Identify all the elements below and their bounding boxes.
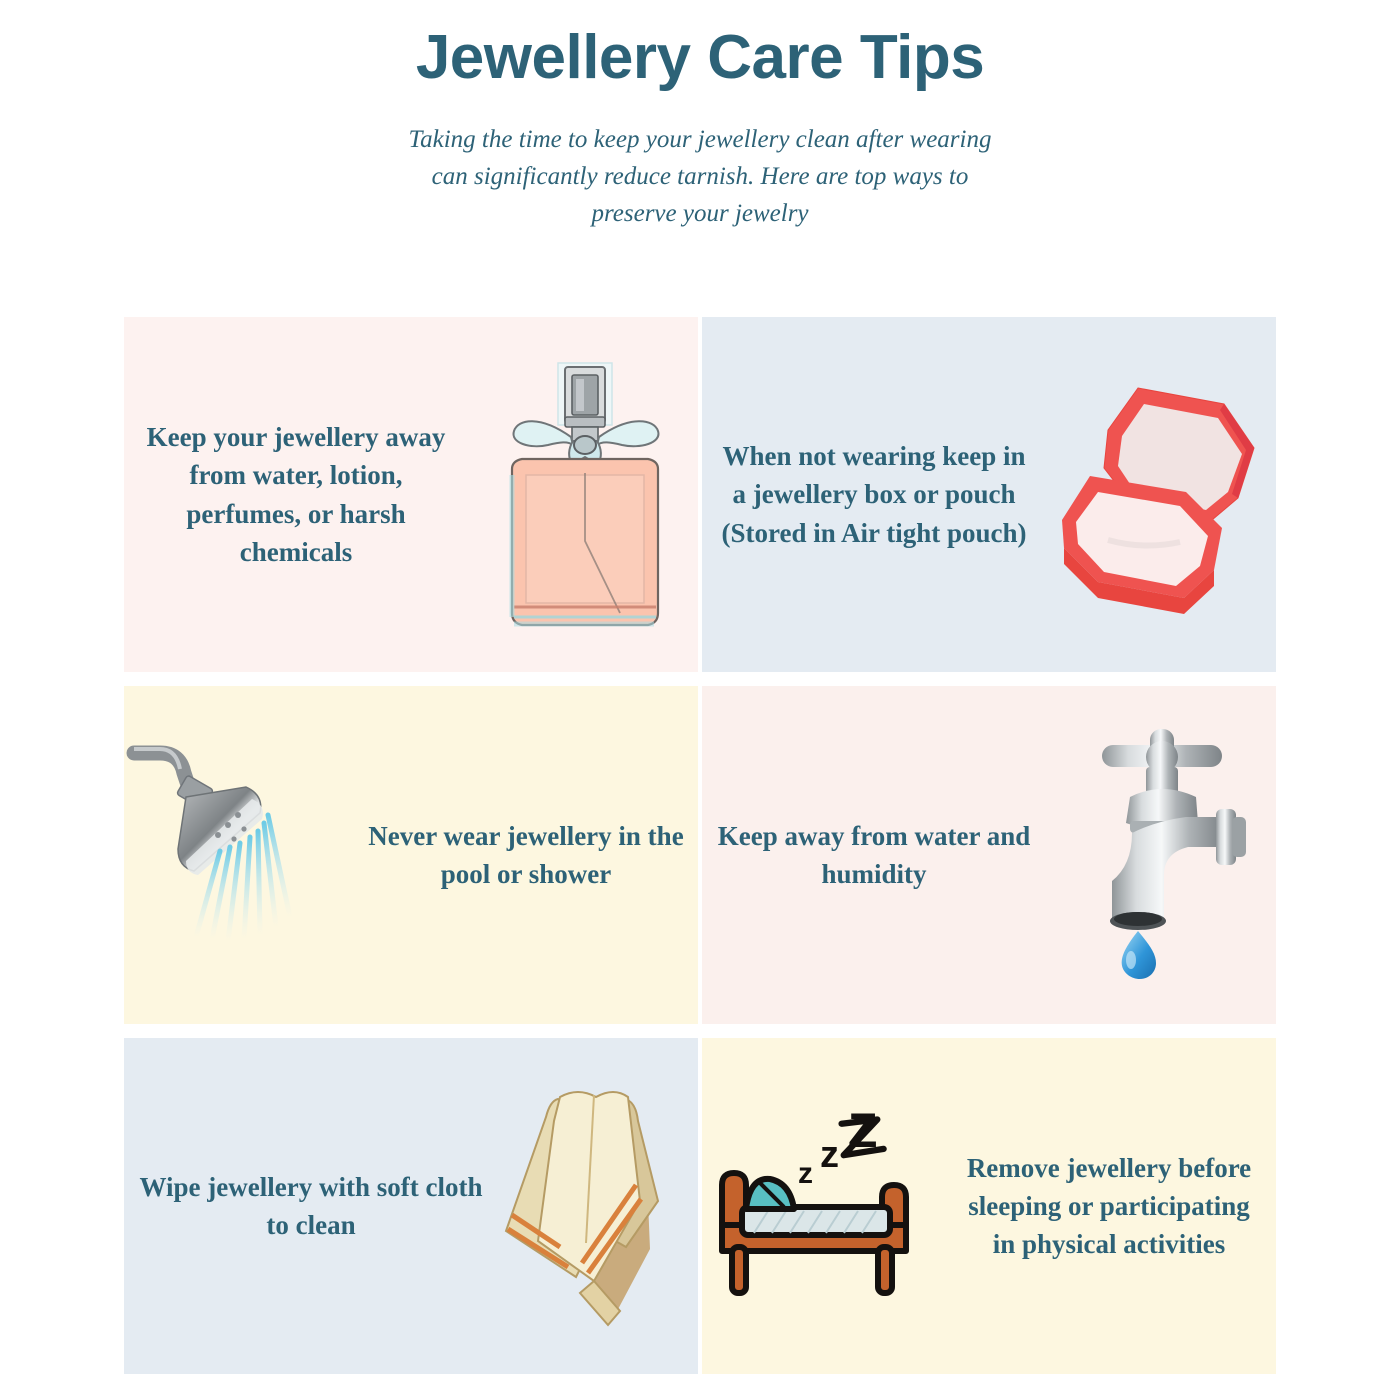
card-illustration: z z Z [702, 1091, 942, 1321]
infographic-page: Jewellery Care Tips Taking the time to k… [0, 0, 1400, 1400]
shower-head-icon [124, 725, 354, 985]
card-remove-before-sleep[interactable]: Remove jewellery before sleeping or part… [702, 1038, 1276, 1374]
page-subtitle: Taking the time to keep your jewellery c… [390, 121, 1010, 232]
card-illustration [1046, 725, 1276, 985]
ring-box-icon [1046, 370, 1276, 620]
card-text: Wipe jewellery with soft cloth to clean [124, 1168, 498, 1245]
card-illustration [498, 1081, 698, 1331]
faucet-icon [1046, 725, 1276, 985]
card-wipe-with-cloth[interactable]: Wipe jewellery with soft cloth to clean [124, 1038, 698, 1374]
card-illustration [468, 345, 698, 645]
card-text: Never wear jewellery in the pool or show… [354, 817, 698, 894]
bed-sleep-icon: z z Z [702, 1091, 942, 1321]
svg-text:Z: Z [848, 1105, 877, 1158]
card-text: Keep away from water and humidity [702, 817, 1046, 894]
svg-text:z: z [820, 1134, 839, 1176]
header: Jewellery Care Tips Taking the time to k… [0, 0, 1400, 232]
page-title: Jewellery Care Tips [0, 22, 1400, 93]
soft-cloth-icon [498, 1081, 698, 1331]
svg-text:z: z [798, 1157, 813, 1190]
card-text: When not wearing keep in a jewellery box… [702, 437, 1046, 552]
perfume-bottle-icon [468, 345, 698, 645]
card-avoid-chemicals[interactable]: Keep your jewellery away from water, lot… [124, 317, 698, 672]
card-text: Remove jewellery before sleeping or part… [942, 1149, 1276, 1264]
card-illustration [1046, 370, 1276, 620]
card-no-pool-shower[interactable]: Never wear jewellery in the pool or show… [124, 686, 698, 1024]
card-illustration [124, 725, 354, 985]
tips-grid: Keep your jewellery away from water, lot… [124, 317, 1276, 1374]
card-avoid-humidity[interactable]: Keep away from water and humidity [702, 686, 1276, 1024]
card-store-in-box[interactable]: When not wearing keep in a jewellery box… [702, 317, 1276, 672]
card-text: Keep your jewellery away from water, lot… [124, 418, 468, 571]
